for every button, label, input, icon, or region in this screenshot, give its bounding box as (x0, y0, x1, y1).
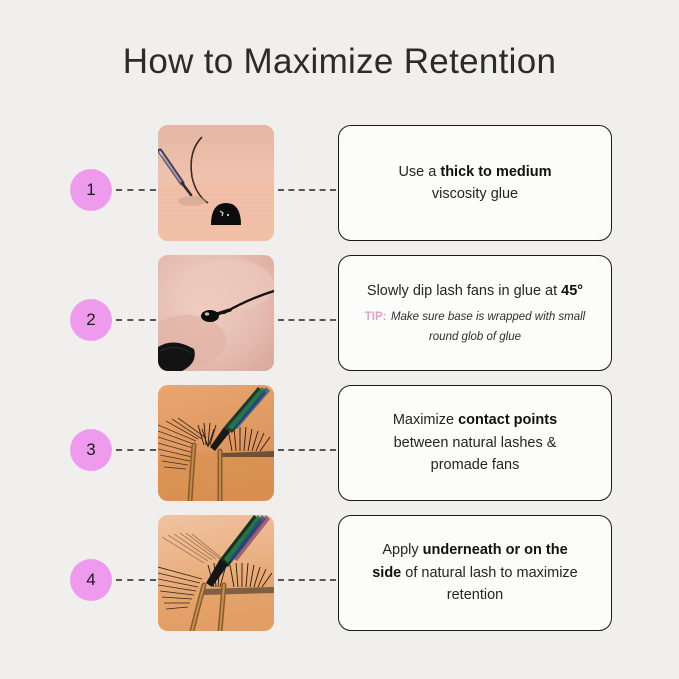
step-card-text: Use a thick to medium (398, 161, 551, 183)
step-number-badge-4[interactable]: 4 (70, 559, 112, 601)
step-card-text: Apply underneath or on the (382, 539, 567, 561)
step-card-text: Maximize contact points (393, 409, 557, 431)
connector-dash-badge-to-image (116, 189, 156, 191)
text-segment: retention (447, 587, 503, 603)
step-number-badge-2[interactable]: 2 (70, 299, 112, 341)
step-row: 4 (0, 515, 679, 645)
step-card-text: retention (447, 584, 503, 606)
page-title: How to Maximize Retention (0, 42, 679, 82)
tip-label: TIP: (365, 311, 387, 323)
step-card-text: Slowly dip lash fans in glue at 45° (367, 280, 583, 302)
step-image-3[interactable] (158, 385, 274, 501)
step-card-3[interactable]: Maximize contact points between natural … (338, 385, 612, 501)
text-segment: Apply (382, 542, 422, 558)
step-card-text: viscosity glue (432, 183, 518, 205)
step-number-label: 4 (86, 570, 95, 590)
step-card-4[interactable]: Apply underneath or on the side of natur… (338, 515, 612, 631)
step-card-text: promade fans (431, 454, 520, 476)
connector-dash-image-to-card (278, 189, 336, 191)
text-segment-bold: 45° (561, 283, 583, 299)
step-number-badge-1[interactable]: 1 (70, 169, 112, 211)
step-card-2[interactable]: Slowly dip lash fans in glue at 45° TIP:… (338, 255, 612, 371)
step-card-text: between natural lashes & (394, 432, 557, 454)
connector-dash-badge-to-image (116, 579, 156, 581)
connector-dash-image-to-card (278, 579, 336, 581)
step-number-badge-3[interactable]: 3 (70, 429, 112, 471)
text-segment-bold: side (372, 565, 401, 581)
step-row: 1 (0, 125, 679, 255)
text-segment: viscosity glue (432, 186, 518, 202)
step-image-4[interactable] (158, 515, 274, 631)
text-segment: promade fans (431, 457, 520, 473)
infographic-root: How to Maximize Retention 1 (0, 0, 679, 679)
text-segment: Maximize (393, 412, 458, 428)
step-row: 3 (0, 385, 679, 515)
connector-dash-badge-to-image (116, 449, 156, 451)
connector-dash-image-to-card (278, 449, 336, 451)
text-segment: Slowly dip lash fans in glue at (367, 283, 561, 299)
step-card-1[interactable]: Use a thick to medium viscosity glue (338, 125, 612, 241)
step-number-label: 3 (86, 440, 95, 460)
step-card-tip: TIP: Make sure base is wrapped with smal… (353, 307, 597, 346)
step-number-label: 1 (86, 180, 95, 200)
step-image-2[interactable] (158, 255, 274, 371)
text-segment-bold: underneath or on the (423, 542, 568, 558)
tip-text: Make sure base is wrapped with small rou… (391, 311, 585, 342)
text-segment-bold: thick to medium (440, 164, 551, 180)
text-segment-bold: contact points (458, 412, 557, 428)
connector-dash-image-to-card (278, 319, 336, 321)
steps-list: 1 (0, 125, 679, 645)
text-segment: Use a (398, 164, 440, 180)
step-card-text: side of natural lash to maximize (372, 562, 578, 584)
step-number-label: 2 (86, 310, 95, 330)
step-image-1[interactable] (158, 125, 274, 241)
text-segment: of natural lash to maximize (401, 565, 578, 581)
connector-dash-badge-to-image (116, 319, 156, 321)
step-row: 2 (0, 255, 679, 385)
text-segment: between natural lashes & (394, 435, 557, 451)
